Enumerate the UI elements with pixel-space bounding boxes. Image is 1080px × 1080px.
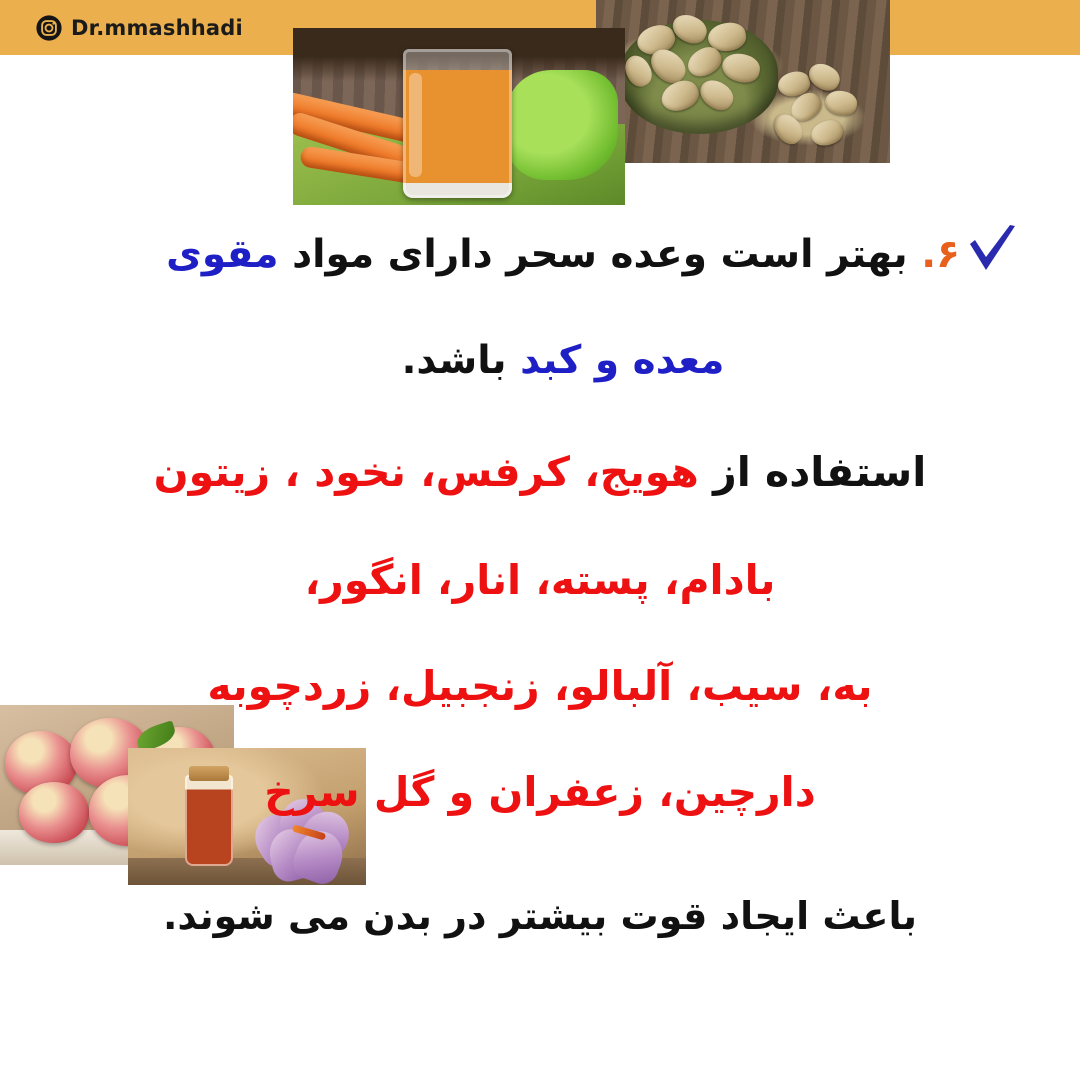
line-2-segment-1: معده و کبد bbox=[520, 338, 724, 383]
line-5-segment-1: به، سیب، آلبالو، زنجبیل، زردچوبه bbox=[207, 662, 872, 710]
line-3-segment-1: استفاده از bbox=[699, 448, 926, 496]
account-handle-block[interactable]: Dr.mmashhadi bbox=[36, 8, 243, 48]
line-1-segment-1: ۶. bbox=[921, 232, 960, 277]
text-line-4: بادام، پسته، انار، انگور، bbox=[0, 556, 1080, 604]
pistachio-photo bbox=[596, 0, 890, 163]
line-4-segment-1: بادام، پسته، انار، انگور، bbox=[305, 556, 776, 604]
text-line-7: باعث ایجاد قوت بیشتر در بدن می شوند. bbox=[0, 894, 1080, 938]
text-line-5: به، سیب، آلبالو، زنجبیل، زردچوبه bbox=[0, 662, 1080, 710]
text-line-6: دارچین، زعفران و گل سرخ bbox=[0, 768, 1080, 816]
text-line-1: ۶. بهتر است وعده سحر دارای مواد مقوی bbox=[0, 232, 1080, 277]
line-2-segment-2: باشد. bbox=[402, 338, 521, 383]
carrot-juice-photo bbox=[293, 28, 625, 205]
line-7-segment-1: باعث ایجاد قوت بیشتر در بدن می شوند. bbox=[163, 894, 917, 938]
line-3-segment-2: هویج، کرفس، نخود ، زیتون bbox=[154, 448, 699, 496]
text-line-2: معده و کبد باشد. bbox=[0, 338, 1080, 383]
line-6-segment-1: دارچین، زعفران و گل سرخ bbox=[264, 768, 816, 816]
line-1-segment-3: مقوی bbox=[166, 232, 278, 277]
line-1-segment-2: بهتر است وعده سحر دارای مواد bbox=[279, 232, 922, 277]
instagram-icon[interactable] bbox=[36, 15, 62, 41]
account-handle-text: Dr.mmashhadi bbox=[71, 16, 243, 40]
check-mark-icon bbox=[966, 224, 1018, 278]
text-line-3: استفاده از هویج، کرفس، نخود ، زیتون bbox=[0, 448, 1080, 496]
